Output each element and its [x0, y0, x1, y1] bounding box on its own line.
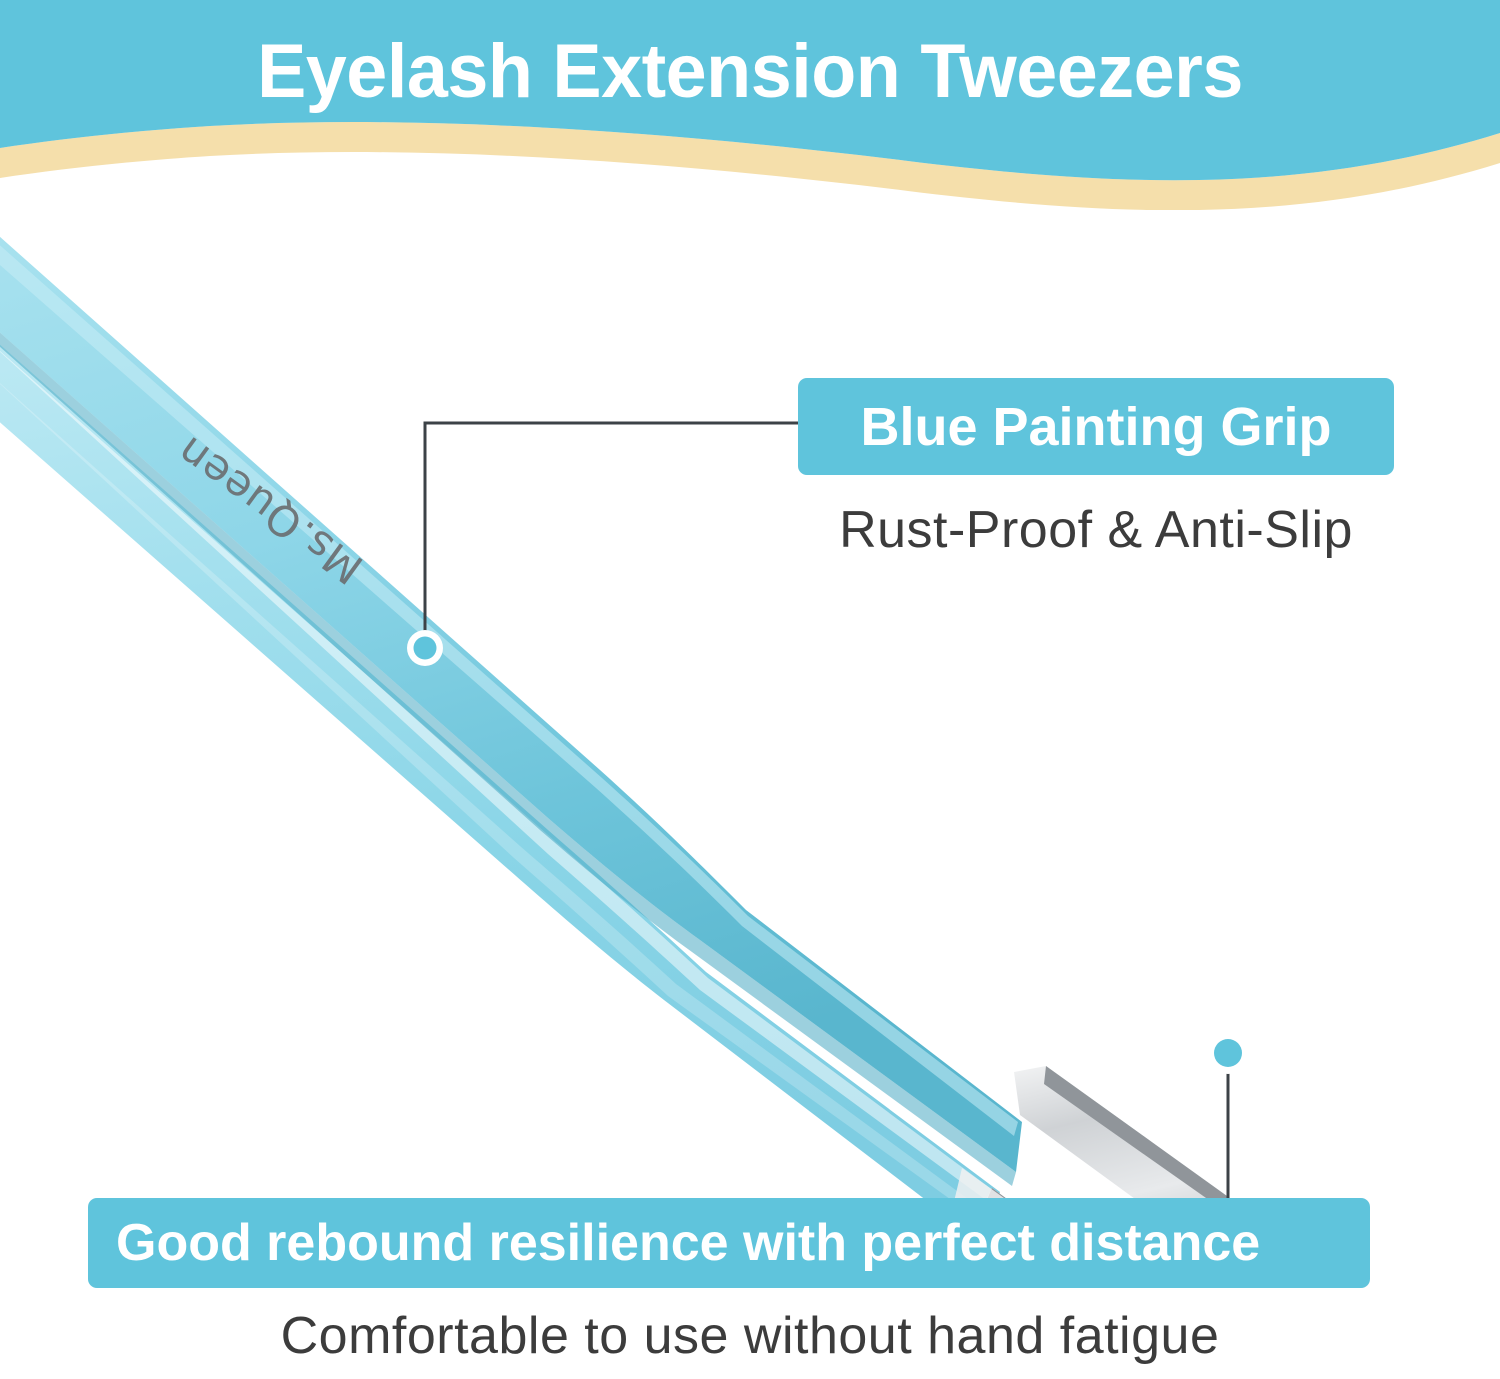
callout-box-blue-painting-grip: Blue Painting Grip [798, 378, 1394, 475]
callout-label-blue-painting-grip: Blue Painting Grip [860, 396, 1331, 458]
callout-label-good-rebound-resilience: Good rebound resilience with perfect dis… [116, 1213, 1260, 1273]
product-photo [0, 210, 1500, 1210]
page-title: Eyelash Extension Tweezers [23, 34, 1478, 110]
callout-subcaption-rust-proof: Rust-Proof & Anti-Slip [798, 500, 1394, 560]
callout-box-good-rebound-resilience: Good rebound resilience with perfect dis… [88, 1198, 1370, 1288]
tweezer-arm-upper-highlight [0, 233, 1018, 1136]
callout-subcaption-comfortable: Comfortable to use without hand fatigue [0, 1306, 1500, 1366]
infographic-page: Eyelash Extension Tweezers [0, 0, 1500, 1379]
